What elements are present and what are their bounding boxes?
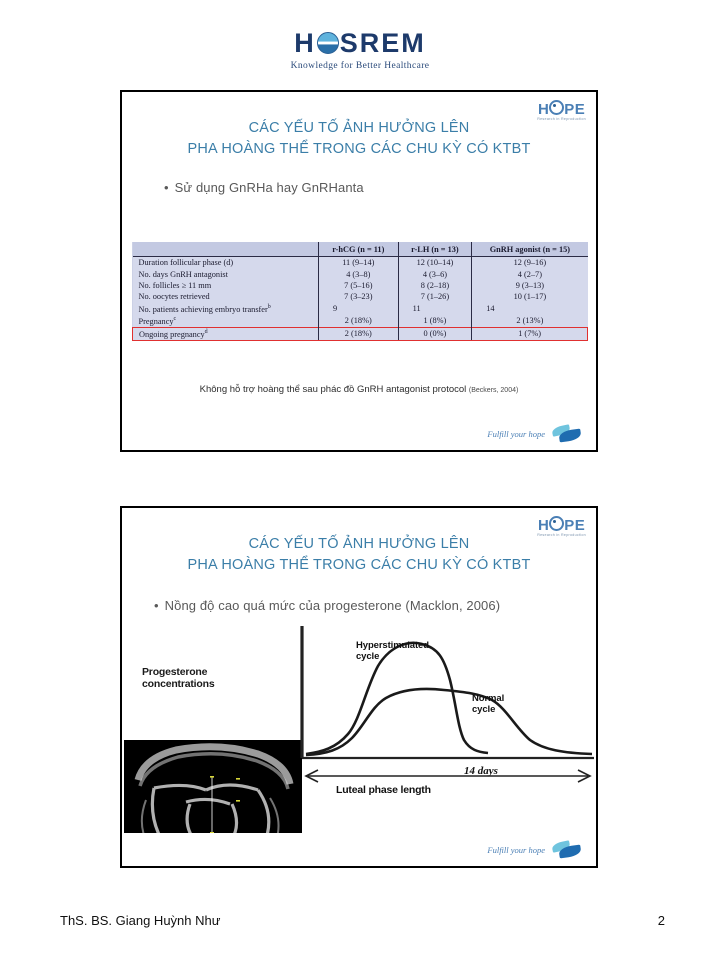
table-cell: 2 (13%)	[472, 315, 588, 328]
table-row: Ongoing pregnancyd2 (18%)0 (0%)1 (7%)	[133, 327, 588, 340]
table-cell: 7 (1–26)	[398, 291, 472, 302]
slide-2-title: CÁC YẾU TỐ ẢNH HƯỞNG LÊN PHA HOÀNG THỂ T…	[122, 534, 596, 576]
hope-before-2: H	[538, 517, 549, 534]
footer-author: ThS. BS. Giang Huỳnh Như	[60, 913, 220, 928]
ultrasound-image	[124, 740, 302, 833]
table-col-header-1: r-LH (n = 13)	[398, 242, 472, 257]
table-cell: 11	[398, 303, 472, 315]
slide-1-bullet: •Sử dụng GnRHa hay GnRHanta	[164, 180, 364, 195]
table-cell: 1 (7%)	[472, 327, 588, 340]
table-row-label: No. patients achieving embryo transferb	[133, 303, 319, 315]
table-caption-citation: (Beckers, 2004)	[469, 387, 518, 394]
hosrem-wordmark: HSREM	[294, 30, 426, 57]
table-cell: 4 (3–6)	[398, 268, 472, 279]
table-cell: 8 (2–18)	[398, 280, 472, 291]
table-row: No. patients achieving embryo transferb9…	[133, 303, 588, 315]
hope-after: PE	[564, 101, 585, 118]
table-cell: 7 (3–23)	[318, 291, 398, 302]
hosrem-tagline: Knowledge for Better Healthcare	[0, 61, 720, 71]
slide-2-title-line2: PHA HOÀNG THỂ TRONG CÁC CHU KỲ CÓ KTBT	[122, 555, 596, 576]
table-cell: 4 (3–8)	[318, 268, 398, 279]
table-cell: 2 (18%)	[318, 315, 398, 328]
table-row-label: Ongoing pregnancyd	[133, 327, 319, 340]
results-table: r-hCG (n = 11) r-LH (n = 13) GnRH agonis…	[132, 242, 588, 341]
table-col-header-2: GnRH agonist (n = 15)	[472, 242, 588, 257]
table-row: No. follicles ≥ 11 mm7 (5–16)8 (2–18)9 (…	[133, 280, 588, 291]
globe-icon	[317, 32, 339, 54]
table-col-header-0: r-hCG (n = 11)	[318, 242, 398, 257]
hope-before: H	[538, 101, 549, 118]
page-footer: ThS. BS. Giang Huỳnh Như 2	[60, 913, 665, 928]
chart-y-axis-label: Progesteroneconcentrations	[142, 666, 214, 690]
petal-leaf-icon	[552, 842, 582, 858]
table-cell: 10 (1–17)	[472, 291, 588, 302]
hope-after-2: PE	[564, 517, 585, 534]
bullet-dot-icon: •	[154, 598, 159, 613]
table-caption: Không hỗ trợ hoàng thể sau phác đồ GnRH …	[122, 384, 596, 395]
fulfill-text: Fulfill your hope	[487, 845, 545, 855]
table-cell: 0 (0%)	[398, 327, 472, 340]
slide-1-title: CÁC YẾU TỐ ẢNH HƯỞNG LÊN PHA HOÀNG THỂ T…	[122, 118, 596, 160]
table-cell: 9 (3–13)	[472, 280, 588, 291]
slide-1: HPE Research in Reproduction CÁC YẾU TỐ …	[120, 90, 598, 452]
table-row-label: Duration follicular phase (d)	[133, 257, 319, 269]
petal-leaf-icon	[552, 426, 582, 442]
slide-1-bullet-text: Sử dụng GnRHa hay GnRHanta	[175, 180, 364, 195]
fulfill-logo-slide-2: Fulfill your hope	[487, 842, 582, 858]
table-cell: 12 (10–14)	[398, 257, 472, 269]
hosrem-name-before: H	[294, 28, 316, 58]
table-cell: 1 (8%)	[398, 315, 472, 328]
hosrem-name-after: SREM	[340, 28, 426, 58]
table-caption-text: Không hỗ trợ hoàng thể sau phác đồ GnRH …	[200, 384, 467, 395]
slide-2-bullet-text: Nồng độ cao quá mức của progesterone (Ma…	[165, 598, 500, 613]
table-row-label: No. days GnRH antagonist	[133, 268, 319, 279]
chart-axis-annotation: 14 days	[464, 765, 498, 777]
table-corner-cell	[133, 242, 319, 257]
bullet-dot-icon: •	[164, 180, 169, 195]
table-row-label: No. follicles ≥ 11 mm	[133, 280, 319, 291]
fulfill-logo-slide-1: Fulfill your hope	[487, 426, 582, 442]
table-row: No. days GnRH antagonist4 (3–8)4 (3–6)4 …	[133, 268, 588, 279]
slide-1-title-line1: CÁC YẾU TỐ ẢNH HƯỞNG LÊN	[249, 120, 470, 136]
table-cell: 7 (5–16)	[318, 280, 398, 291]
hosrem-logo: HSREM Knowledge for Better Healthcare	[0, 30, 720, 71]
table-row-label: Pregnancyc	[133, 315, 319, 328]
table-row: Duration follicular phase (d)11 (9–14)12…	[133, 257, 588, 269]
progesterone-line-chart	[292, 618, 596, 798]
slide-2: HPE Research in Reproduction CÁC YẾU TỐ …	[120, 506, 598, 868]
slide-2-title-line1: CÁC YẾU TỐ ẢNH HƯỞNG LÊN	[249, 536, 470, 552]
chart-series-label-hyperstimulated: Hyperstimulatedcycle	[356, 640, 429, 662]
table-cell: 11 (9–14)	[318, 257, 398, 269]
chart-series-label-normal: Normalcycle	[472, 693, 504, 715]
table-row: No. oocytes retrieved7 (3–23)7 (1–26)10 …	[133, 291, 588, 302]
chart-x-axis-label: Luteal phase length	[336, 784, 431, 796]
table-row: Pregnancyc2 (18%)1 (8%)2 (13%)	[133, 315, 588, 328]
slide-1-title-line2: PHA HOÀNG THỂ TRONG CÁC CHU KỲ CÓ KTBT	[122, 139, 596, 160]
hope-eye-icon	[549, 100, 564, 115]
results-table-wrap: r-hCG (n = 11) r-LH (n = 13) GnRH agonis…	[132, 242, 588, 341]
table-cell: 2 (18%)	[318, 327, 398, 340]
progesterone-figure: Progesteroneconcentrations	[124, 618, 596, 833]
table-header-row: r-hCG (n = 11) r-LH (n = 13) GnRH agonis…	[133, 242, 588, 257]
table-cell: 14	[472, 303, 588, 315]
footer-page-number: 2	[658, 913, 665, 928]
fulfill-text: Fulfill your hope	[487, 429, 545, 439]
table-row-label: No. oocytes retrieved	[133, 291, 319, 302]
table-cell: 12 (9–16)	[472, 257, 588, 269]
table-cell: 9	[318, 303, 398, 315]
slide-2-bullet: •Nồng độ cao quá mức của progesterone (M…	[154, 598, 500, 613]
hope-eye-icon	[549, 516, 564, 531]
table-cell: 4 (2–7)	[472, 268, 588, 279]
